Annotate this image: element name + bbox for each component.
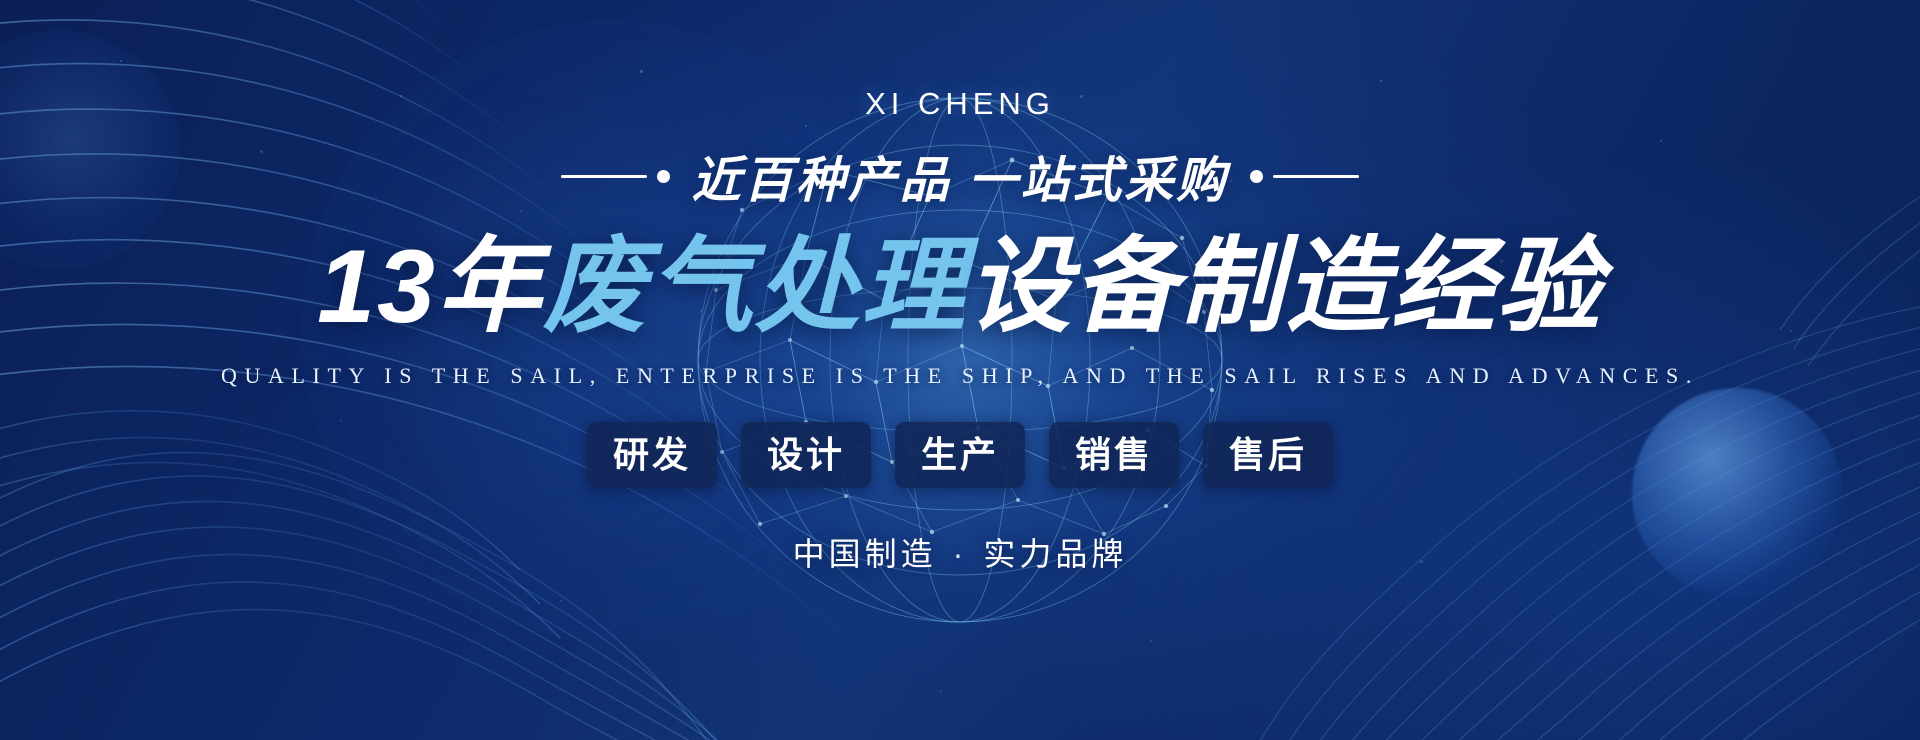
footer-right-text: 实力品牌 (983, 536, 1127, 572)
hero-banner: XI CHENG 近百种产品 一站式采购 13年废气处理设备制造经验 QUALI… (0, 0, 1920, 740)
footer-separator: · (937, 536, 984, 572)
service-tag-list: 研发 设计 生产 销售 售后 (587, 422, 1333, 488)
service-tag[interactable]: 销售 (1049, 422, 1179, 488)
service-tag[interactable]: 售后 (1203, 422, 1333, 488)
decorative-dot-left (657, 170, 670, 183)
headline-years: 13年 (317, 229, 543, 345)
subtitle-row: 近百种产品 一站式采购 (561, 141, 1360, 212)
decorative-dot-right (1250, 170, 1263, 183)
brand-name-english: XI CHENG (865, 86, 1055, 122)
banner-headline: 13年废气处理设备制造经验 (317, 226, 1603, 349)
footer-left-text: 中国制造 (793, 536, 937, 572)
decorative-bar-left (561, 175, 647, 178)
decorative-bar-right (1273, 175, 1359, 178)
banner-content: XI CHENG 近百种产品 一站式采购 13年废气处理设备制造经验 QUALI… (0, 0, 1920, 740)
banner-subtitle: 近百种产品 一站式采购 (692, 141, 1229, 212)
service-tag[interactable]: 设计 (741, 422, 871, 488)
headline-suffix: 设备制造经验 (967, 229, 1603, 345)
service-tag[interactable]: 研发 (587, 422, 717, 488)
service-tag[interactable]: 生产 (895, 422, 1025, 488)
decorative-line-right (1250, 170, 1359, 183)
banner-tagline-english: QUALITY IS THE SAIL, ENTERPRISE IS THE S… (221, 363, 1699, 389)
headline-highlight: 废气处理 (543, 229, 967, 345)
decorative-line-left (561, 170, 670, 183)
banner-footer-line: 中国制造·实力品牌 (793, 529, 1128, 575)
